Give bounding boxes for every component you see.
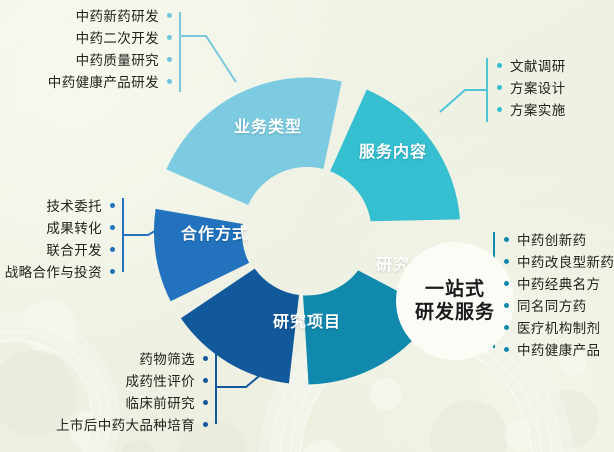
donut-chart: 业务类型 服务内容 研究品类 研究项目 合作方式 一站式 研发服务 — [148, 72, 466, 390]
bullet-dot — [110, 225, 115, 230]
bullet-dot — [203, 378, 208, 383]
list-item-label: 方案设计 — [510, 77, 566, 97]
list-item[interactable]: 上市后中药大品种培育 — [0, 413, 208, 435]
bullet-dot — [504, 347, 509, 352]
bullet-dot — [497, 107, 502, 112]
list-service-content: 文献调研 方案设计 方案实施 — [497, 54, 614, 120]
bullet-dot — [203, 400, 208, 405]
list-item-label: 同名同方药 — [517, 295, 587, 315]
bullet-dot — [504, 325, 509, 330]
list-business-type: 中药新药研发 中药二次开发 中药质量研究 中药健康产品研发 — [0, 4, 172, 92]
list-item-label: 战略合作与投资 — [5, 261, 102, 281]
list-item-label: 成果转化 — [46, 217, 102, 237]
list-research-category: 中药创新药 中药改良型新药 中药经典名方 同名同方药 医疗机构制剂 中药健康产品 — [504, 228, 614, 360]
bullet-dot — [167, 57, 172, 62]
bullet-dot — [110, 269, 115, 274]
list-item-label: 联合开发 — [46, 239, 102, 259]
list-item-label: 中药改良型新药 — [517, 251, 614, 271]
list-item-label: 中药经典名方 — [517, 273, 600, 293]
list-item-label: 中药创新药 — [517, 229, 587, 249]
bullet-dot — [504, 281, 509, 286]
list-item[interactable]: 中药新药研发 — [0, 4, 172, 26]
list-item[interactable]: 中药创新药 — [504, 228, 614, 250]
list-item-label: 药物筛选 — [139, 348, 195, 368]
center-title-line2: 研发服务 — [415, 301, 495, 324]
bullet-dot — [497, 63, 502, 68]
list-item[interactable]: 中药经典名方 — [504, 272, 614, 294]
bullet-dot — [504, 259, 509, 264]
list-item[interactable]: 中药健康产品 — [504, 338, 614, 360]
list-item[interactable]: 文献调研 — [497, 54, 614, 76]
list-item-label: 中药健康产品 — [517, 339, 600, 359]
bullet-dot — [110, 247, 115, 252]
list-research-project: 药物筛选 成药性评价 临床前研究 上市后中药大品种培育 — [0, 347, 208, 435]
list-item[interactable]: 中药健康产品研发 — [0, 70, 172, 92]
bullet-dot — [497, 85, 502, 90]
list-item-label: 中药质量研究 — [76, 49, 159, 69]
bullet-dot — [203, 422, 208, 427]
center-hub: 一站式 研发服务 — [396, 242, 514, 360]
center-title-line1: 一站式 — [425, 278, 485, 301]
list-item-label: 临床前研究 — [126, 392, 196, 412]
list-item[interactable]: 成药性评价 — [0, 369, 208, 391]
bullet-dot — [167, 13, 172, 18]
list-item-label: 文献调研 — [510, 55, 566, 75]
list-item[interactable]: 方案实施 — [497, 98, 614, 120]
list-item-label: 医疗机构制剂 — [517, 317, 600, 337]
segment-label-business-type: 业务类型 — [234, 113, 302, 137]
list-cooperation-mode: 技术委托 成果转化 联合开发 战略合作与投资 — [0, 194, 115, 282]
list-item[interactable]: 临床前研究 — [0, 391, 208, 413]
list-item-label: 技术委托 — [46, 195, 102, 215]
bullet-dot — [504, 237, 509, 242]
infographic-canvas: 业务类型 服务内容 研究品类 研究项目 合作方式 一站式 研发服务 中药新药研发… — [0, 0, 614, 452]
bullet-dot — [167, 35, 172, 40]
list-item[interactable]: 联合开发 — [0, 238, 115, 260]
bullet-dot — [167, 79, 172, 84]
list-item-label: 上市后中药大品种培育 — [56, 414, 195, 434]
bullet-dot — [203, 356, 208, 361]
list-item[interactable]: 方案设计 — [497, 76, 614, 98]
list-item-label: 中药二次开发 — [76, 27, 159, 47]
bullet-dot — [110, 203, 115, 208]
bullet-dot — [504, 303, 509, 308]
list-item[interactable]: 中药改良型新药 — [504, 250, 614, 272]
segment-label-research-project: 研究项目 — [273, 308, 341, 332]
list-item-label: 方案实施 — [510, 99, 566, 119]
segment-business-type[interactable] — [164, 72, 351, 224]
list-item[interactable]: 中药质量研究 — [0, 48, 172, 70]
list-item[interactable]: 技术委托 — [0, 194, 115, 216]
list-item[interactable]: 中药二次开发 — [0, 26, 172, 48]
list-item[interactable]: 战略合作与投资 — [0, 260, 115, 282]
list-item[interactable]: 药物筛选 — [0, 347, 208, 369]
list-item[interactable]: 成果转化 — [0, 216, 115, 238]
list-item[interactable]: 同名同方药 — [504, 294, 614, 316]
list-item-label: 中药健康产品研发 — [48, 71, 159, 91]
list-item[interactable]: 医疗机构制剂 — [504, 316, 614, 338]
segment-service-content[interactable] — [319, 87, 466, 248]
list-item-label: 中药新药研发 — [76, 5, 159, 25]
segment-label-service-content: 服务内容 — [359, 138, 427, 162]
segment-label-cooperation-mode: 合作方式 — [181, 220, 249, 244]
list-item-label: 成药性评价 — [126, 370, 196, 390]
